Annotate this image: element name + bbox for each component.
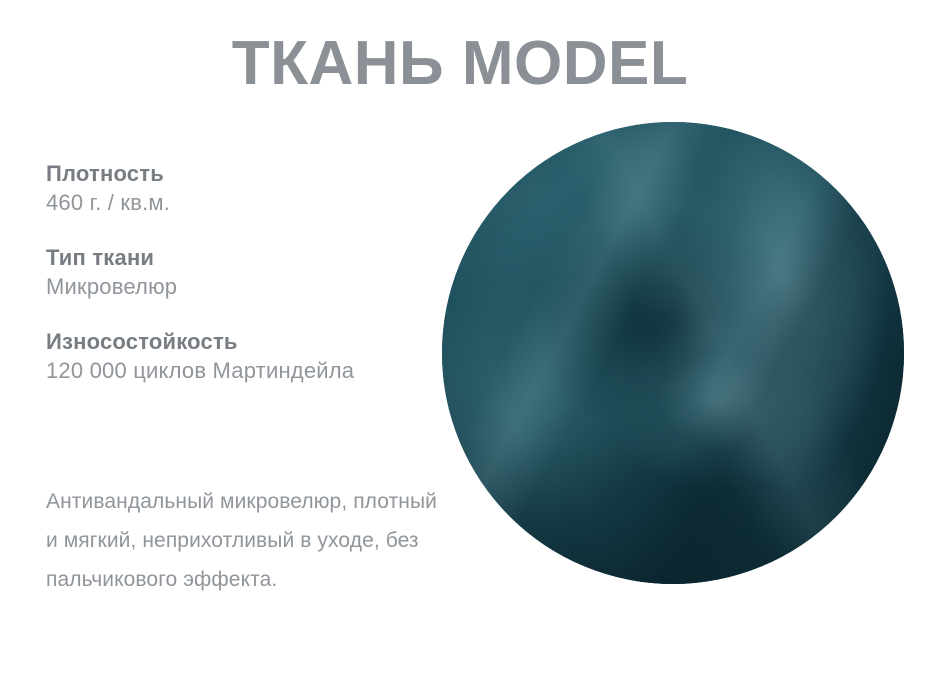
spec-label-density: Плотность: [46, 160, 436, 188]
spec-item-density: Плотность 460 г. / кв.м.: [46, 160, 436, 218]
page-title: ТКАНЬ MODEL: [0, 28, 920, 100]
fabric-swatch-image: [442, 122, 904, 584]
spec-item-abrasion-resistance: Износостойкость 120 000 циклов Мартиндей…: [46, 328, 436, 386]
spec-list: Плотность 460 г. / кв.м. Тип ткани Микро…: [46, 160, 436, 386]
fabric-vignette: [442, 122, 904, 584]
spec-value-density: 460 г. / кв.м.: [46, 188, 436, 218]
fabric-spec-slide: ТКАНЬ MODEL Плотность 460 г. / кв.м. Тип…: [0, 0, 934, 700]
spec-item-fabric-type: Тип ткани Микровелюр: [46, 244, 436, 302]
spec-value-abrasion-resistance: 120 000 циклов Мартиндейла: [46, 356, 436, 386]
spec-value-fabric-type: Микровелюр: [46, 272, 436, 302]
spec-label-fabric-type: Тип ткани: [46, 244, 436, 272]
spec-label-abrasion-resistance: Износостойкость: [46, 328, 436, 356]
description-paragraph: Антивандальный микровелюр, плотный и мяг…: [46, 482, 446, 599]
